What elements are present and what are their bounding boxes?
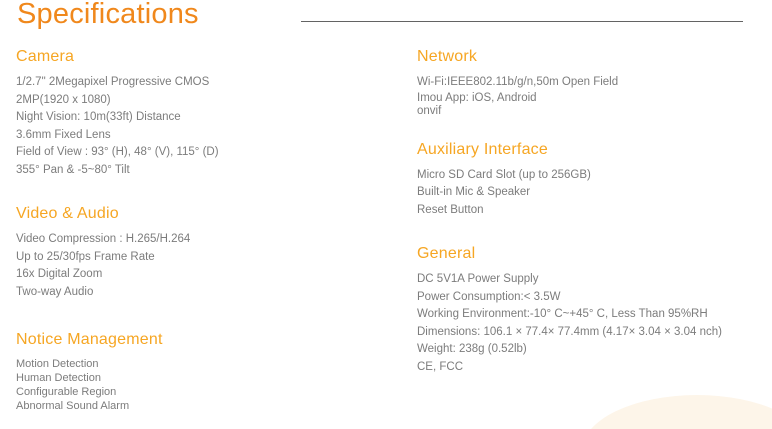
spec-line: Abnormal Sound Alarm (16, 399, 406, 413)
title-divider (301, 21, 743, 22)
section-auxiliary-interface: Auxiliary Interface Micro SD Card Slot (… (417, 141, 767, 220)
spec-line: Dimensions: 106.1 × 77.4× 77.4mm (4.17× … (417, 324, 767, 342)
spec-line: Motion Detection (16, 357, 406, 371)
spec-line: Video Compression : H.265/H.264 (16, 231, 406, 249)
spec-line: Field of View : 93° (H), 48° (V), 115° (… (16, 144, 406, 162)
spec-line: Built-in Mic & Speaker (417, 184, 767, 202)
spec-line: Up to 25/30fps Frame Rate (16, 249, 406, 267)
section-heading-auxiliary-interface: Auxiliary Interface (417, 141, 767, 159)
spec-line: DC 5V1A Power Supply (417, 271, 767, 289)
spec-line: Reset Button (417, 202, 767, 220)
section-notice-management: Notice Management Motion Detection Human… (16, 331, 406, 413)
spec-line: Configurable Region (16, 385, 406, 399)
page-header: Specifications (0, 0, 772, 42)
spec-line: onvif (417, 105, 767, 119)
section-video-audio: Video & Audio Video Compression : H.265/… (16, 205, 406, 301)
spec-list-network: Wi-Fi:IEEE802.11b/g/n,50m Open Field Imo… (417, 74, 767, 119)
specifications-sheet: Specifications Camera 1/2.7" 2Megapixel … (0, 0, 772, 429)
spec-line: 16x Digital Zoom (16, 266, 406, 284)
spec-line: 3.6mm Fixed Lens (16, 127, 406, 145)
spec-list-camera: 1/2.7" 2Megapixel Progressive CMOS 2MP(1… (16, 74, 406, 179)
spec-line: Wi-Fi:IEEE802.11b/g/n,50m Open Field (417, 74, 767, 92)
corner-decoration (582, 395, 772, 429)
spec-line: 1/2.7" 2Megapixel Progressive CMOS (16, 74, 406, 92)
spec-line: CE, FCC (417, 359, 767, 377)
left-column: Camera 1/2.7" 2Megapixel Progressive CMO… (16, 48, 406, 429)
spec-line: 2MP(1920 x 1080) (16, 92, 406, 110)
spec-line: 355° Pan & -5~80° Tilt (16, 162, 406, 180)
spec-list-auxiliary-interface: Micro SD Card Slot (up to 256GB) Built-i… (417, 167, 767, 220)
spec-line: Human Detection (16, 371, 406, 385)
spec-line: Micro SD Card Slot (up to 256GB) (417, 167, 767, 185)
right-column: Network Wi-Fi:IEEE802.11b/g/n,50m Open F… (417, 48, 767, 396)
spec-line: Two-way Audio (16, 284, 406, 302)
spec-line: Working Environment:-10° C~+45° C, Less … (417, 306, 767, 324)
section-heading-notice-management: Notice Management (16, 331, 406, 349)
spec-list-general: DC 5V1A Power Supply Power Consumption:<… (417, 271, 767, 376)
section-heading-general: General (417, 245, 767, 263)
section-network: Network Wi-Fi:IEEE802.11b/g/n,50m Open F… (417, 48, 767, 119)
spec-line: Night Vision: 10m(33ft) Distance (16, 109, 406, 127)
spec-list-video-audio: Video Compression : H.265/H.264 Up to 25… (16, 231, 406, 301)
section-heading-camera: Camera (16, 48, 406, 66)
page-title: Specifications (17, 0, 199, 31)
spec-line: Imou App: iOS, Android (417, 92, 767, 106)
section-camera: Camera 1/2.7" 2Megapixel Progressive CMO… (16, 48, 406, 179)
spec-line: Weight: 238g (0.52lb) (417, 341, 767, 359)
spec-list-notice-management: Motion Detection Human Detection Configu… (16, 357, 406, 413)
section-general: General DC 5V1A Power Supply Power Consu… (417, 245, 767, 376)
spec-line: Power Consumption:< 3.5W (417, 289, 767, 307)
section-heading-network: Network (417, 48, 767, 66)
section-heading-video-audio: Video & Audio (16, 205, 406, 223)
